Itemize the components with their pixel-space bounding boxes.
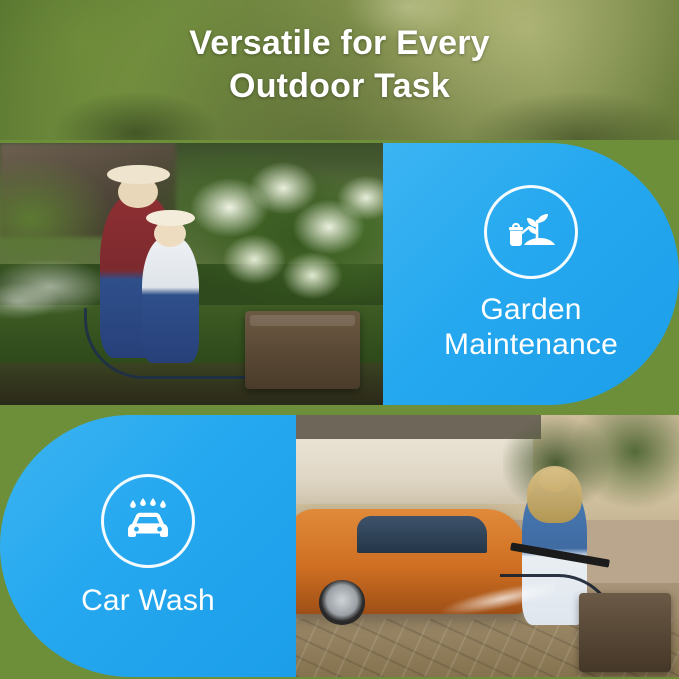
card-car-wash: Car Wash: [0, 415, 296, 677]
garden-hydrangea-bush: [184, 159, 383, 321]
car-wash-icon: [101, 474, 195, 568]
panel-garden: Garden Maintenance: [0, 143, 679, 405]
promo-poster: Versatile for Every Outdoor Task: [0, 0, 679, 679]
garden-child-figure: [142, 237, 199, 363]
card-garden-label-line-2: Maintenance: [444, 328, 618, 363]
car-wash-photo: [296, 415, 679, 677]
page-title-line-1: Versatile for Every: [0, 22, 679, 65]
page-title: Versatile for Every Outdoor Task: [0, 22, 679, 108]
garden-scene: [0, 143, 383, 405]
car-window: [357, 516, 487, 553]
garden-watering-photo: [0, 143, 383, 405]
card-car-wash-label-line-1: Car Wash: [81, 584, 215, 619]
card-garden-label-line-1: Garden: [444, 293, 618, 328]
garden-hose-reel-box: [245, 311, 360, 390]
plant-watering-can-icon: [484, 185, 578, 279]
car-wash-scene: [296, 415, 679, 677]
panel-car-wash: Car Wash: [0, 415, 679, 677]
card-garden-maintenance: Garden Maintenance: [383, 143, 679, 405]
page-title-line-2: Outdoor Task: [0, 65, 679, 108]
car-wheel: [319, 580, 365, 625]
card-garden-label: Garden Maintenance: [434, 293, 628, 363]
car-hose-reel-box: [579, 593, 671, 672]
header-banner: Versatile for Every Outdoor Task: [0, 0, 679, 140]
card-car-wash-label: Car Wash: [71, 584, 225, 619]
